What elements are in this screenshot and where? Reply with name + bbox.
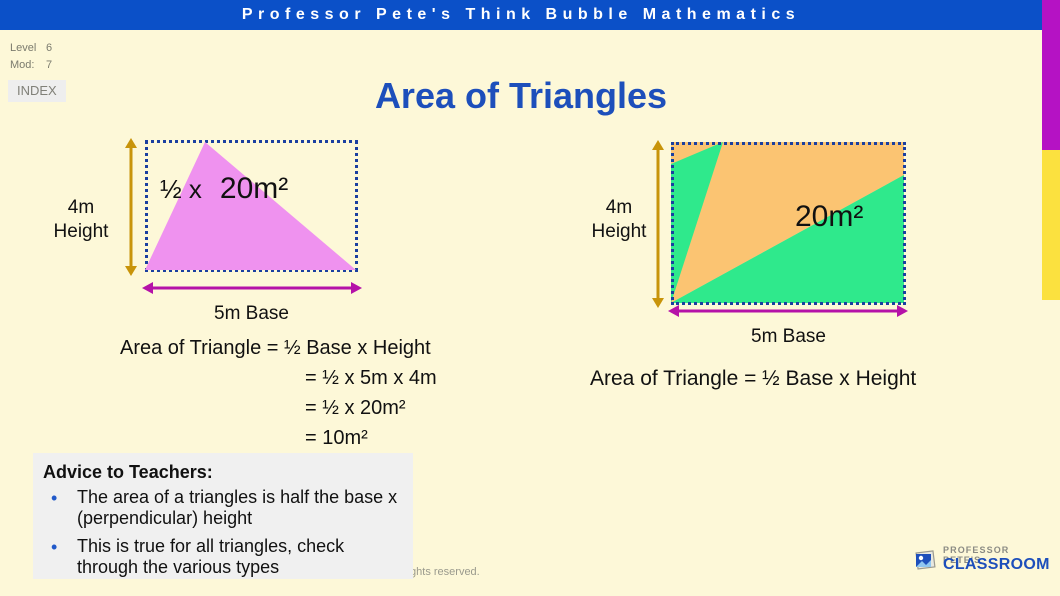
advice-to-teachers-box: Advice to Teachers: • The area of a tria… (33, 453, 413, 579)
right-height-label: 4m Height (578, 196, 660, 244)
right-base-label: 5m Base (671, 326, 906, 348)
left-equation-line-1: Area of Triangle = ½ Base x Height (120, 337, 437, 360)
right-rect-inner-text: 20m² (795, 200, 863, 234)
decor-strip-magenta (1042, 0, 1060, 150)
bullet-icon: • (51, 488, 57, 509)
bullet-icon: • (51, 537, 57, 558)
advice-list: • The area of a triangles is half the ba… (43, 487, 403, 585)
right-height-value: 4m (578, 196, 660, 220)
decor-strip-cream (1042, 300, 1060, 596)
slide-canvas: Professor Pete's Think Bubble Mathematic… (0, 0, 1060, 596)
advice-item-text: This is true for all triangles, check th… (77, 536, 344, 577)
left-equation-line-4: = 10m² (305, 427, 437, 450)
right-bounding-rectangle (671, 142, 906, 305)
list-item: • The area of a triangles is half the ba… (43, 487, 403, 529)
advice-item-text: The area of a triangles is half the base… (77, 487, 397, 528)
list-item: • This is true for all triangles, check … (43, 536, 403, 578)
advice-title: Advice to Teachers: (43, 462, 213, 483)
right-equation-line-1: Area of Triangle = ½ Base x Height (590, 367, 916, 391)
decor-strip-yellow (1042, 150, 1060, 300)
left-equation-block: Area of Triangle = ½ Base x Height = ½ x… (120, 337, 437, 457)
right-base-arrow (668, 304, 908, 318)
logo-line-2: CLASSROOM (943, 556, 1050, 574)
brand-logo: PROFESSOR PETE'S CLASSROOM (913, 545, 1033, 575)
classroom-icon (913, 547, 939, 573)
left-equation-line-3: = ½ x 20m² (305, 397, 437, 420)
left-equation-line-2: = ½ x 5m x 4m (305, 367, 437, 390)
right-height-word: Height (578, 220, 660, 244)
